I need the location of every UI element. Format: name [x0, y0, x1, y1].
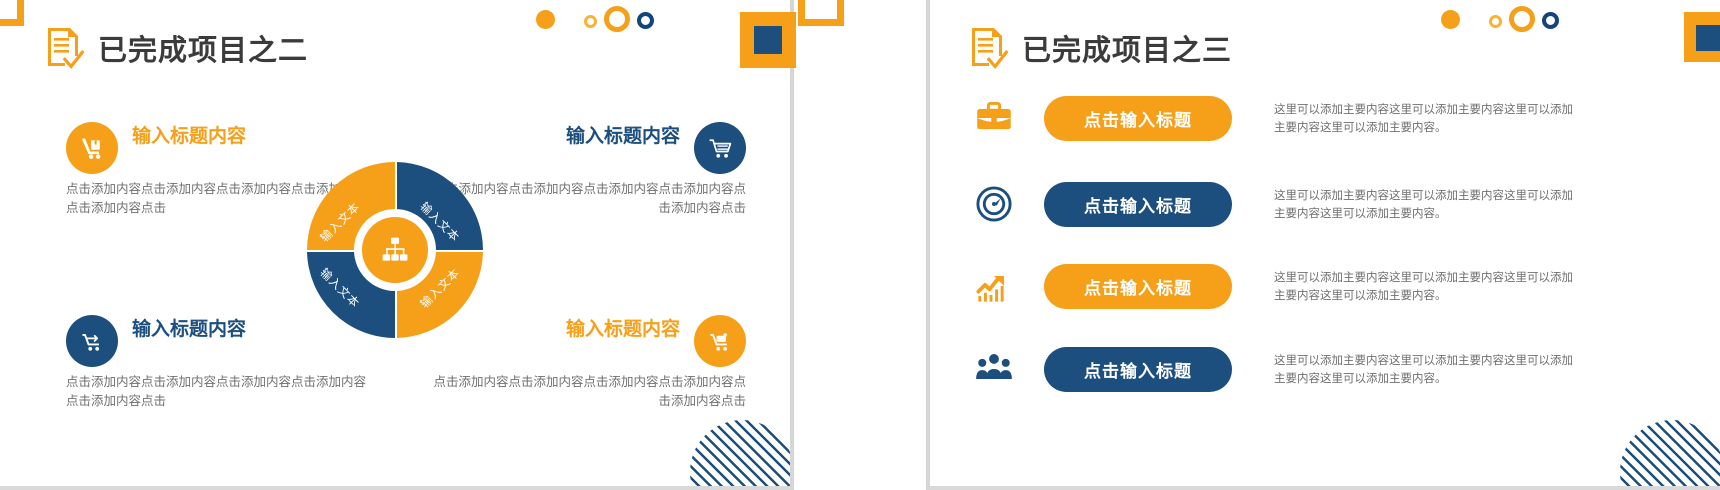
page-title: 已完成项目之二	[98, 27, 308, 69]
feature-button-2[interactable]: 点击输入标题	[1044, 182, 1232, 227]
shopping-cart-icon	[694, 122, 746, 174]
growth-chart-icon	[970, 262, 1018, 310]
feature-body-4: 这里可以添加主要内容这里可以添加主要内容这里可以添加主要内容这里可以添加主要内容…	[1274, 351, 1579, 388]
decor-square-inner-navy	[1696, 25, 1720, 51]
block-title: 输入标题内容	[132, 126, 246, 147]
feature-body-2: 这里可以添加主要内容这里可以添加主要内容这里可以添加主要内容这里可以添加主要内容…	[1274, 186, 1579, 223]
block-body: 点击添加内容点击添加内容点击添加内容点击添加内容点击添加内容点击	[424, 372, 746, 411]
decor-dot-ring-orange-small	[1489, 15, 1502, 28]
decor-dot-filled-orange	[536, 10, 555, 29]
decor-square-outline-orange	[798, 0, 844, 26]
block-title: 输入标题内容	[566, 126, 680, 147]
feature-button-4[interactable]: 点击输入标题	[1044, 347, 1232, 392]
decor-dot-filled-orange	[1441, 10, 1460, 29]
feature-row-3[interactable]: 点击输入标题 这里可以添加主要内容这里可以添加主要内容这里可以添加主要内容这里可…	[970, 262, 1579, 310]
decor-hatch-circle	[1620, 420, 1720, 490]
slide-bottom-rule	[0, 486, 790, 490]
slide-completed-project-three: 已完成项目之三 点击输入标题 这里可以添加主要内容这里可以添加主要内容这里可以添…	[930, 0, 1720, 490]
slide-gap	[790, 0, 930, 490]
slide-three-header: 已完成项目之三	[968, 26, 1232, 70]
block-title: 输入标题内容	[566, 319, 680, 340]
feature-button-1[interactable]: 点击输入标题	[1044, 96, 1232, 141]
donut-center	[362, 217, 428, 283]
page-title: 已完成项目之三	[1022, 27, 1232, 69]
feature-body-1: 这里可以添加主要内容这里可以添加主要内容这里可以添加主要内容这里可以添加主要内容…	[1274, 100, 1579, 137]
slide-divider-left	[790, 0, 794, 490]
document-check-icon	[968, 26, 1008, 70]
cart-arrow-icon	[66, 315, 118, 367]
cart-plus-icon	[694, 315, 746, 367]
slide-bottom-rule	[930, 486, 1720, 490]
feature-body-3: 这里可以添加主要内容这里可以添加主要内容这里可以添加主要内容这里可以添加主要内容…	[1274, 268, 1579, 305]
block-body: 点击添加内容点击添加内容点击添加内容点击添加内容点击添加内容点击	[66, 372, 371, 411]
gauge-icon	[970, 180, 1018, 228]
decor-dot-ring-orange-large	[604, 6, 630, 32]
hand-truck-icon	[66, 122, 118, 174]
slide-completed-project-two: 已完成项目之二 输入标题内容 点击添加内容点击添加内容点击添加内容点击添加内容点…	[0, 0, 790, 490]
corner-square-outline-icon	[0, 0, 24, 26]
briefcase-icon	[970, 94, 1018, 142]
decor-dot-ring-navy	[1542, 12, 1559, 29]
slide-two-header: 已完成项目之二	[44, 26, 308, 70]
decor-dot-ring-navy	[637, 12, 654, 29]
feature-button-3[interactable]: 点击输入标题	[1044, 264, 1232, 309]
decor-dot-ring-orange-large	[1509, 6, 1535, 32]
block-title: 输入标题内容	[132, 319, 246, 340]
feature-row-1[interactable]: 点击输入标题 这里可以添加主要内容这里可以添加主要内容这里可以添加主要内容这里可…	[970, 94, 1579, 142]
decor-square-inner-navy	[754, 26, 782, 54]
donut-diagram: 输入文本 输入文本 输入文本 输入文本	[307, 162, 483, 338]
feature-row-4[interactable]: 点击输入标题 这里可以添加主要内容这里可以添加主要内容这里可以添加主要内容这里可…	[970, 345, 1579, 393]
decor-dot-ring-orange-small	[584, 15, 597, 28]
decor-hatch-circle	[690, 420, 790, 490]
org-chart-icon	[380, 235, 410, 265]
slide-deck: 已完成项目之二 输入标题内容 点击添加内容点击添加内容点击添加内容点击添加内容点…	[0, 0, 1720, 490]
document-check-icon	[44, 26, 84, 70]
feature-row-2[interactable]: 点击输入标题 这里可以添加主要内容这里可以添加主要内容这里可以添加主要内容这里可…	[970, 180, 1579, 228]
